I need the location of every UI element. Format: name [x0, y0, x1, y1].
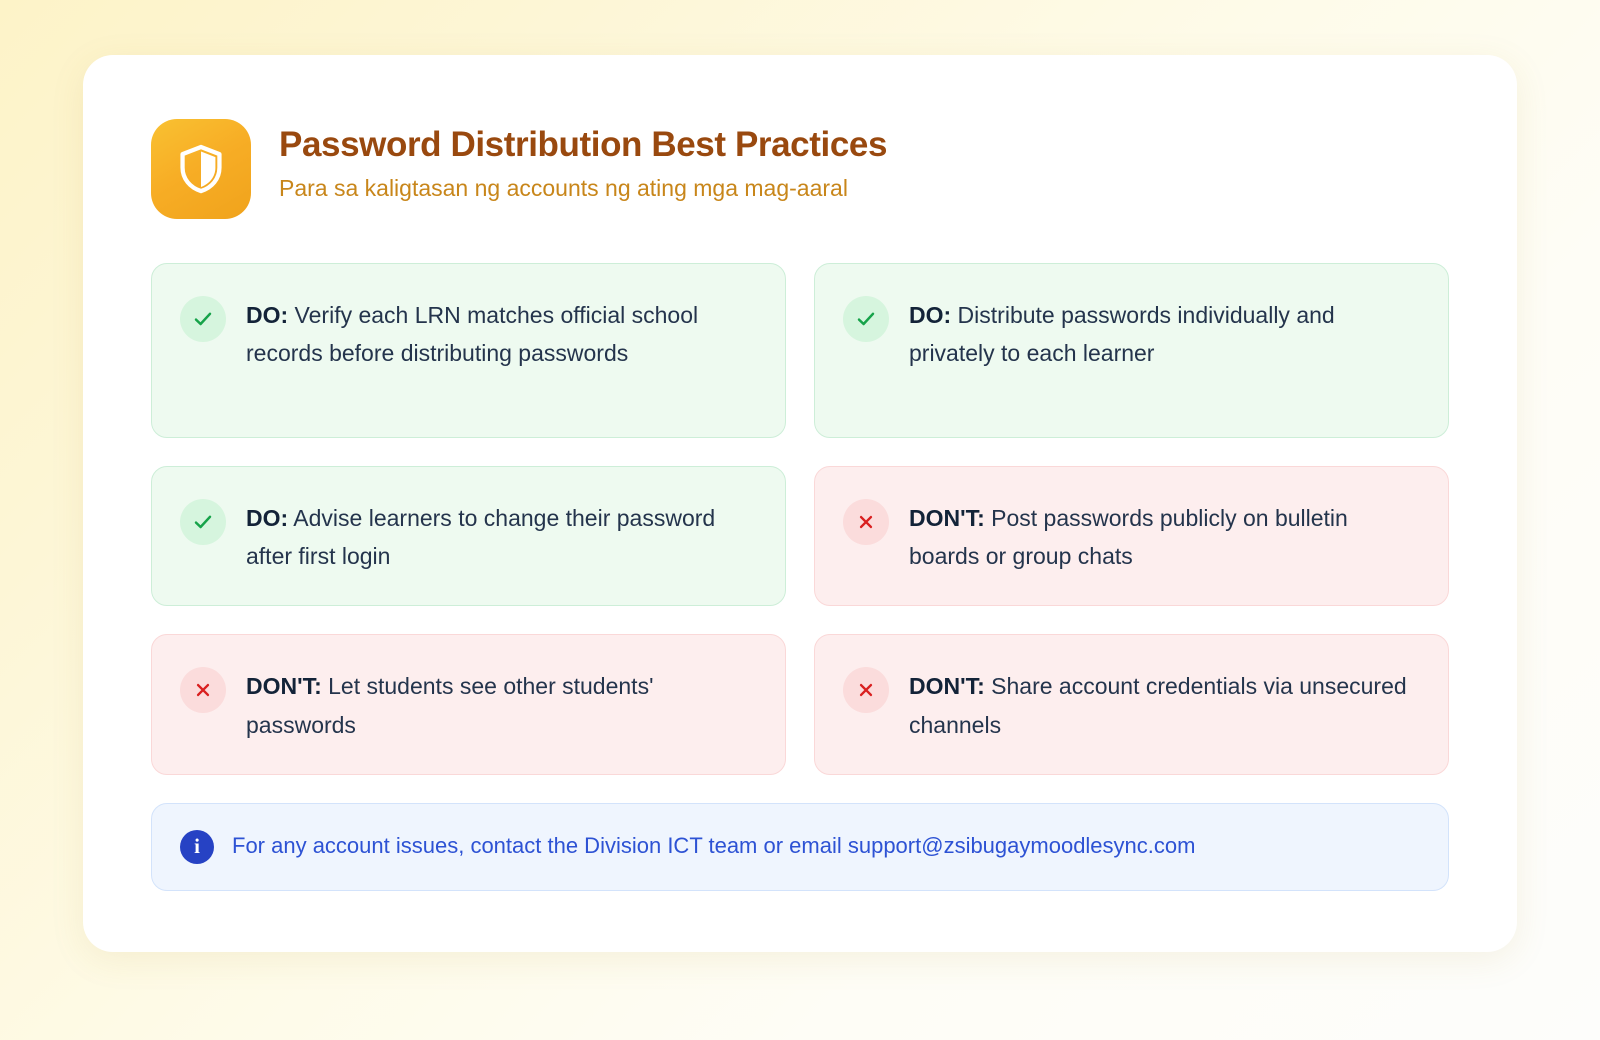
practice-card-do-1: DO: Verify each LRN matches official sch…	[151, 263, 786, 438]
check-icon	[180, 296, 226, 342]
practice-card-dont-1: DON'T: Post passwords publicly on bullet…	[814, 466, 1449, 606]
main-panel: Password Distribution Best Practices Par…	[83, 55, 1517, 952]
info-banner-text: For any account issues, contact the Divi…	[232, 832, 1195, 861]
practice-card-do-3: DO: Advise learners to change their pass…	[151, 466, 786, 606]
practice-text: DO: Advise learners to change their pass…	[246, 497, 759, 575]
page-header: Password Distribution Best Practices Par…	[151, 119, 1449, 219]
practice-lead: DO:	[909, 302, 951, 328]
practice-body: Verify each LRN matches official school …	[246, 302, 698, 366]
practice-text: DO: Verify each LRN matches official sch…	[246, 294, 759, 372]
practice-card-do-2: DO: Distribute passwords individually an…	[814, 263, 1449, 438]
practice-lead: DON'T:	[246, 673, 322, 699]
info-banner: i For any account issues, contact the Di…	[151, 803, 1449, 891]
practices-grid: DO: Verify each LRN matches official sch…	[151, 263, 1449, 775]
practice-card-dont-2: DON'T: Let students see other students' …	[151, 634, 786, 774]
practice-text: DON'T: Post passwords publicly on bullet…	[909, 497, 1422, 575]
cross-icon	[180, 667, 226, 713]
practice-lead: DO:	[246, 505, 288, 531]
check-icon	[180, 499, 226, 545]
info-icon: i	[180, 830, 214, 864]
check-icon	[843, 296, 889, 342]
practice-lead: DON'T:	[909, 673, 985, 699]
cross-icon	[843, 499, 889, 545]
header-text-group: Password Distribution Best Practices Par…	[279, 119, 887, 203]
practice-body: Distribute passwords individually and pr…	[909, 302, 1335, 366]
practice-lead: DON'T:	[909, 505, 985, 531]
page-backdrop: Password Distribution Best Practices Par…	[0, 0, 1600, 1040]
cross-icon	[843, 667, 889, 713]
shield-icon	[151, 119, 251, 219]
practice-text: DO: Distribute passwords individually an…	[909, 294, 1422, 372]
practice-card-dont-3: DON'T: Share account credentials via uns…	[814, 634, 1449, 774]
page-subtitle: Para sa kaligtasan ng accounts ng ating …	[279, 174, 887, 203]
practice-text: DON'T: Let students see other students' …	[246, 665, 759, 743]
practice-lead: DO:	[246, 302, 288, 328]
practice-text: DON'T: Share account credentials via uns…	[909, 665, 1422, 743]
practice-body: Advise learners to change their password…	[246, 505, 715, 569]
page-title: Password Distribution Best Practices	[279, 125, 887, 165]
